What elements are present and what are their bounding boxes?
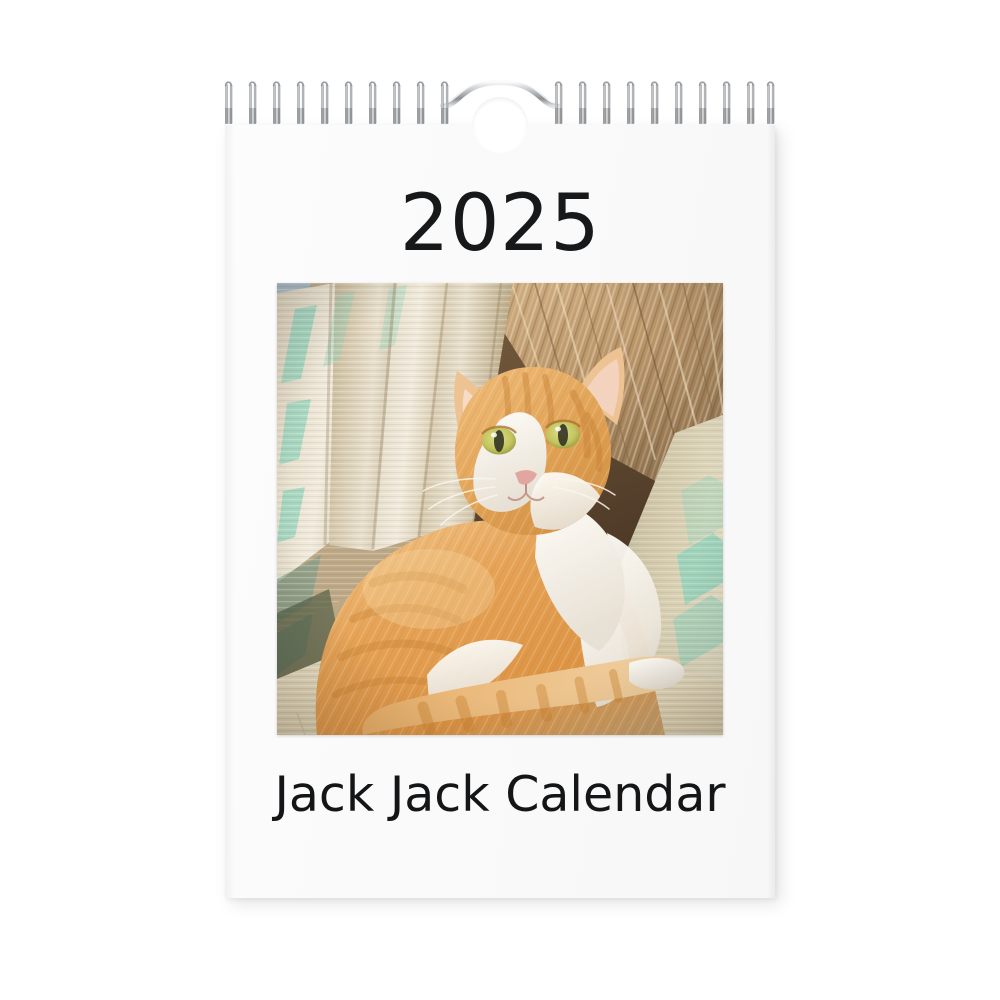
hanging-hole	[472, 97, 528, 153]
cover-photo	[277, 283, 723, 735]
cover-photo-artwork	[277, 283, 723, 735]
screenshot-canvas: 2025	[0, 0, 1000, 1000]
spiral-loops-left	[225, 82, 448, 124]
calendar-title-caption: Jack Jack Calendar	[225, 770, 775, 819]
calendar-year-title: 2025	[225, 185, 775, 263]
calendar-card: 2025	[225, 125, 775, 898]
spiral-loops-right	[555, 82, 774, 124]
